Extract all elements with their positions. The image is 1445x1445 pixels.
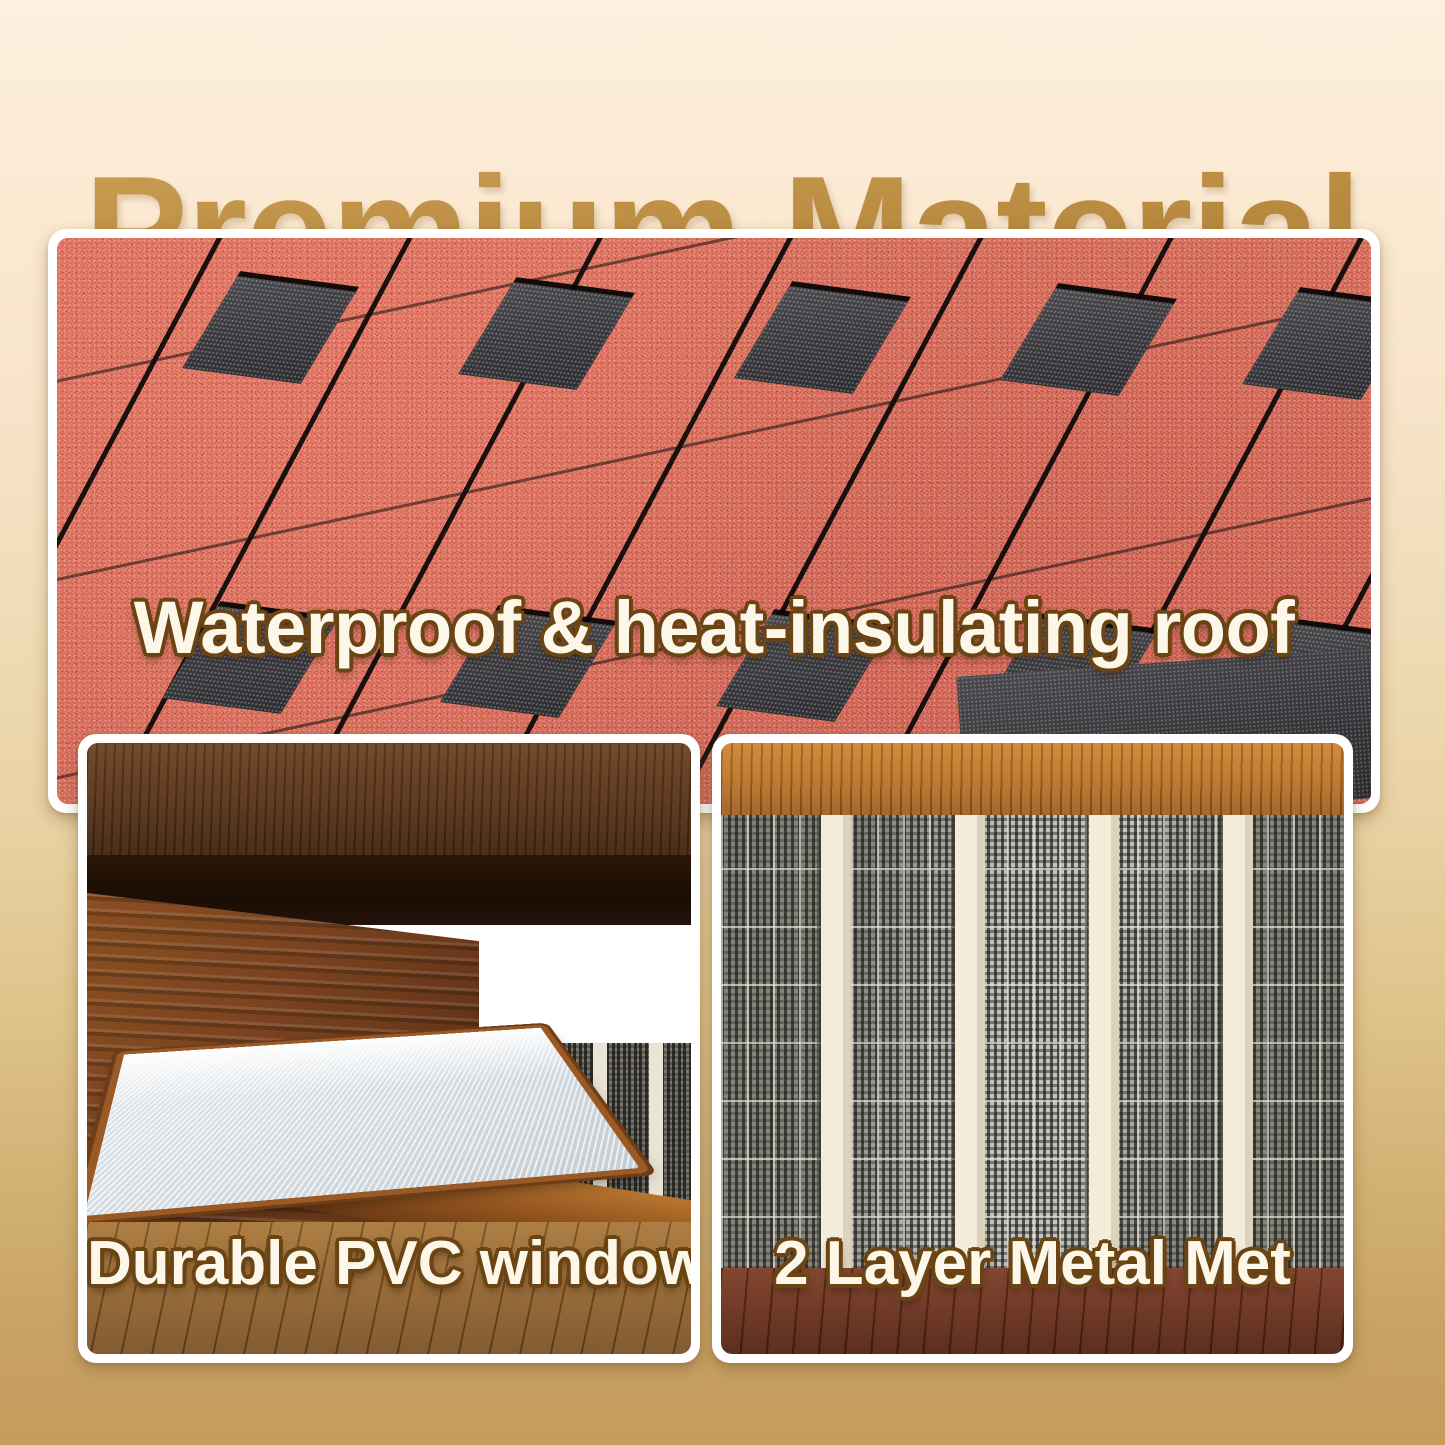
metal-mesh-photo: 2 Layer Metal Met [721,743,1344,1354]
vertical-bars [721,815,1344,1276]
feature-card-metal-mesh[interactable]: 2 Layer Metal Met [712,734,1353,1363]
product-feature-poster: Premium Material Waterproof & heat-insul… [0,0,1445,1445]
caption-pvc-window: Durable PVC windows [87,1228,691,1299]
caption-metal-mesh: 2 Layer Metal Met [721,1228,1344,1299]
caption-roof: Waterproof & heat-insulating roof [57,585,1371,670]
feature-card-roof[interactable]: Waterproof & heat-insulating roof [48,229,1380,813]
feature-card-pvc-window[interactable]: Durable PVC windows [78,734,700,1363]
wood-top-rail [721,743,1344,821]
pvc-window-photo: Durable PVC windows [87,743,691,1354]
wood-beam [87,743,691,861]
roof-photo: Waterproof & heat-insulating roof [57,238,1371,804]
